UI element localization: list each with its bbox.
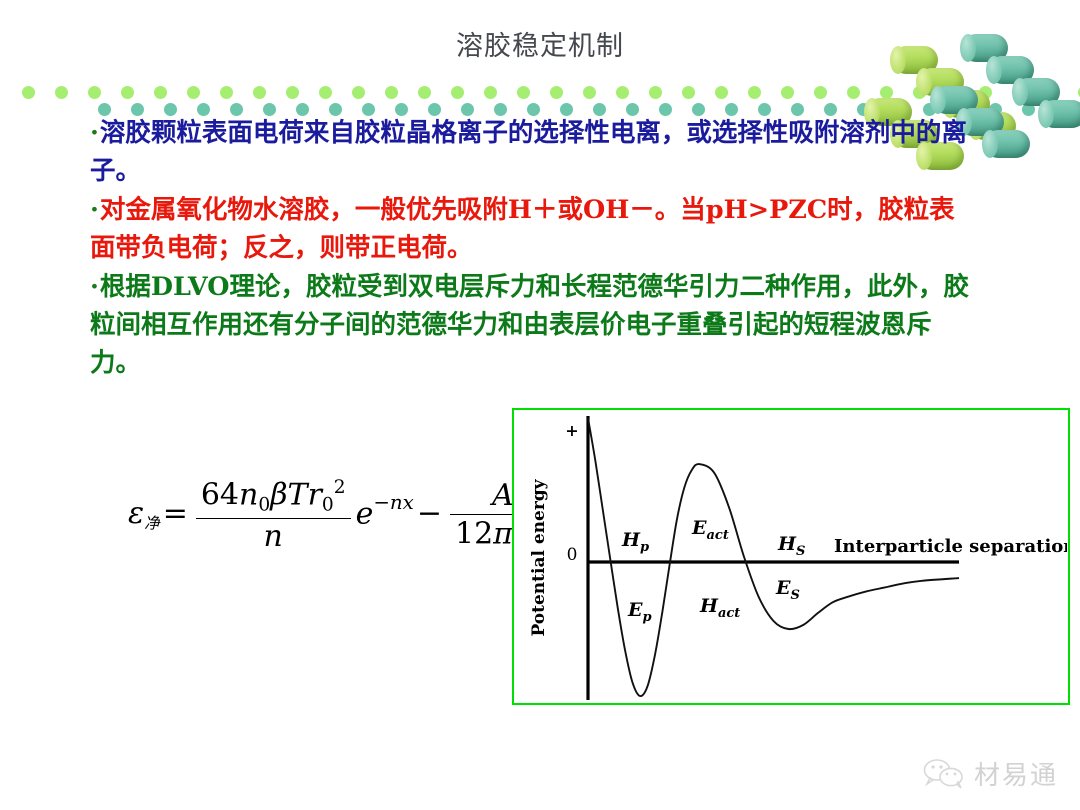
bullet-marker: · (90, 118, 99, 148)
chart-annotation-Hp: Hp (621, 529, 649, 555)
formula-fraction-1-denominator: n (196, 519, 351, 553)
bullet-text: 对金属氧化物水溶胶，一般优先吸附H＋或OH－。当pH>PZC时，胶粒表面带负电荷… (90, 195, 955, 263)
formula-lhs: ε净 (128, 496, 160, 531)
decor-dot (286, 86, 299, 99)
decor-dot (583, 86, 596, 99)
formula-fraction-1: 64n0βTr02n (196, 478, 351, 553)
decor-dot (847, 86, 860, 99)
formula-exponential: e (356, 496, 374, 531)
chart-y-tick-plus: + (565, 421, 578, 440)
bullet-text: 根据DLVO理论，胶粒受到双电层斥力和长程范德华引力二种作用，此外，胶粒间相互作… (90, 272, 969, 378)
decor-dot (451, 86, 464, 99)
chart-annotation-Hact: Hact (699, 595, 740, 621)
decor-dot (715, 86, 728, 99)
decor-dot (121, 86, 134, 99)
chart-dlvo-curve (588, 418, 959, 696)
cylinder-icon (1040, 100, 1080, 128)
decor-dot (385, 86, 398, 99)
decor-dot (352, 86, 365, 99)
chart-y-axis-label: Potential energy (529, 478, 549, 636)
decor-dot (88, 86, 101, 99)
decor-dot (748, 86, 761, 99)
bullet-text: 溶胶颗粒表面电荷来自胶粒晶格离子的选择性电离，或选择性吸附溶剂中的离子。 (90, 118, 967, 186)
bullet-list: ·溶胶颗粒表面电荷来自胶粒晶格离子的选择性电离，或选择性吸附溶剂中的离子。 ·对… (90, 114, 970, 383)
dlvo-potential-energy-chart: + 0 Potential energy Interparticle separ… (512, 408, 1070, 705)
watermark-text: 材易通 (974, 755, 1058, 792)
chart-annotation-HS: HS (777, 533, 805, 559)
cylinder-icon (984, 130, 1030, 158)
bullet-marker: · (90, 195, 99, 225)
decor-dot (550, 86, 563, 99)
decor-dot (517, 86, 530, 99)
decor-dot (682, 86, 695, 99)
bullet-marker: · (90, 272, 99, 302)
decor-dot (484, 86, 497, 99)
chart-y-tick-zero: 0 (567, 545, 578, 565)
decor-dot (781, 86, 794, 99)
chart-annotation-Ep: Ep (627, 599, 652, 625)
decor-dot (22, 86, 35, 99)
wechat-icon (922, 759, 966, 789)
chart-x-axis-label: Interparticle separation (834, 536, 1067, 557)
decor-dot (319, 86, 332, 99)
bullet-item-1: ·溶胶颗粒表面电荷来自胶粒晶格离子的选择性电离，或选择性吸附溶剂中的离子。 (90, 114, 970, 190)
decor-dot (418, 86, 431, 99)
decor-dot (187, 86, 200, 99)
decor-dot (55, 86, 68, 99)
formula-fraction-1-numerator: 64n0βTr02 (196, 478, 351, 519)
decor-dot (220, 86, 233, 99)
dlvo-formula: ε净=64n0βTr02ne−nx−A12πH2 (128, 478, 561, 553)
chart-svg: + 0 Potential energy Interparticle separ… (514, 410, 1067, 702)
chart-annotation-Eact: Eact (691, 517, 729, 543)
slide-root: 溶胶稳定机制 ·溶胶颗 (0, 0, 1080, 810)
formula-equals: = (163, 496, 188, 531)
formula-lhs-subscript: 净 (144, 515, 160, 533)
decor-dot (814, 86, 827, 99)
watermark: 材易通 (922, 755, 1058, 792)
formula-exponent: −nx (373, 491, 413, 514)
decor-dot (616, 86, 629, 99)
decor-dot (253, 86, 266, 99)
bullet-item-3: ·根据DLVO理论，胶粒受到双电层斥力和长程范德华引力二种作用，此外，胶粒间相互… (90, 268, 970, 382)
chart-annotation-ES: ES (775, 577, 800, 603)
formula-minus: − (417, 496, 442, 531)
decor-dot (649, 86, 662, 99)
decor-dot (154, 86, 167, 99)
bullet-item-2: ·对金属氧化物水溶胶，一般优先吸附H＋或OH－。当pH>PZC时，胶粒表面带负电… (90, 191, 970, 267)
